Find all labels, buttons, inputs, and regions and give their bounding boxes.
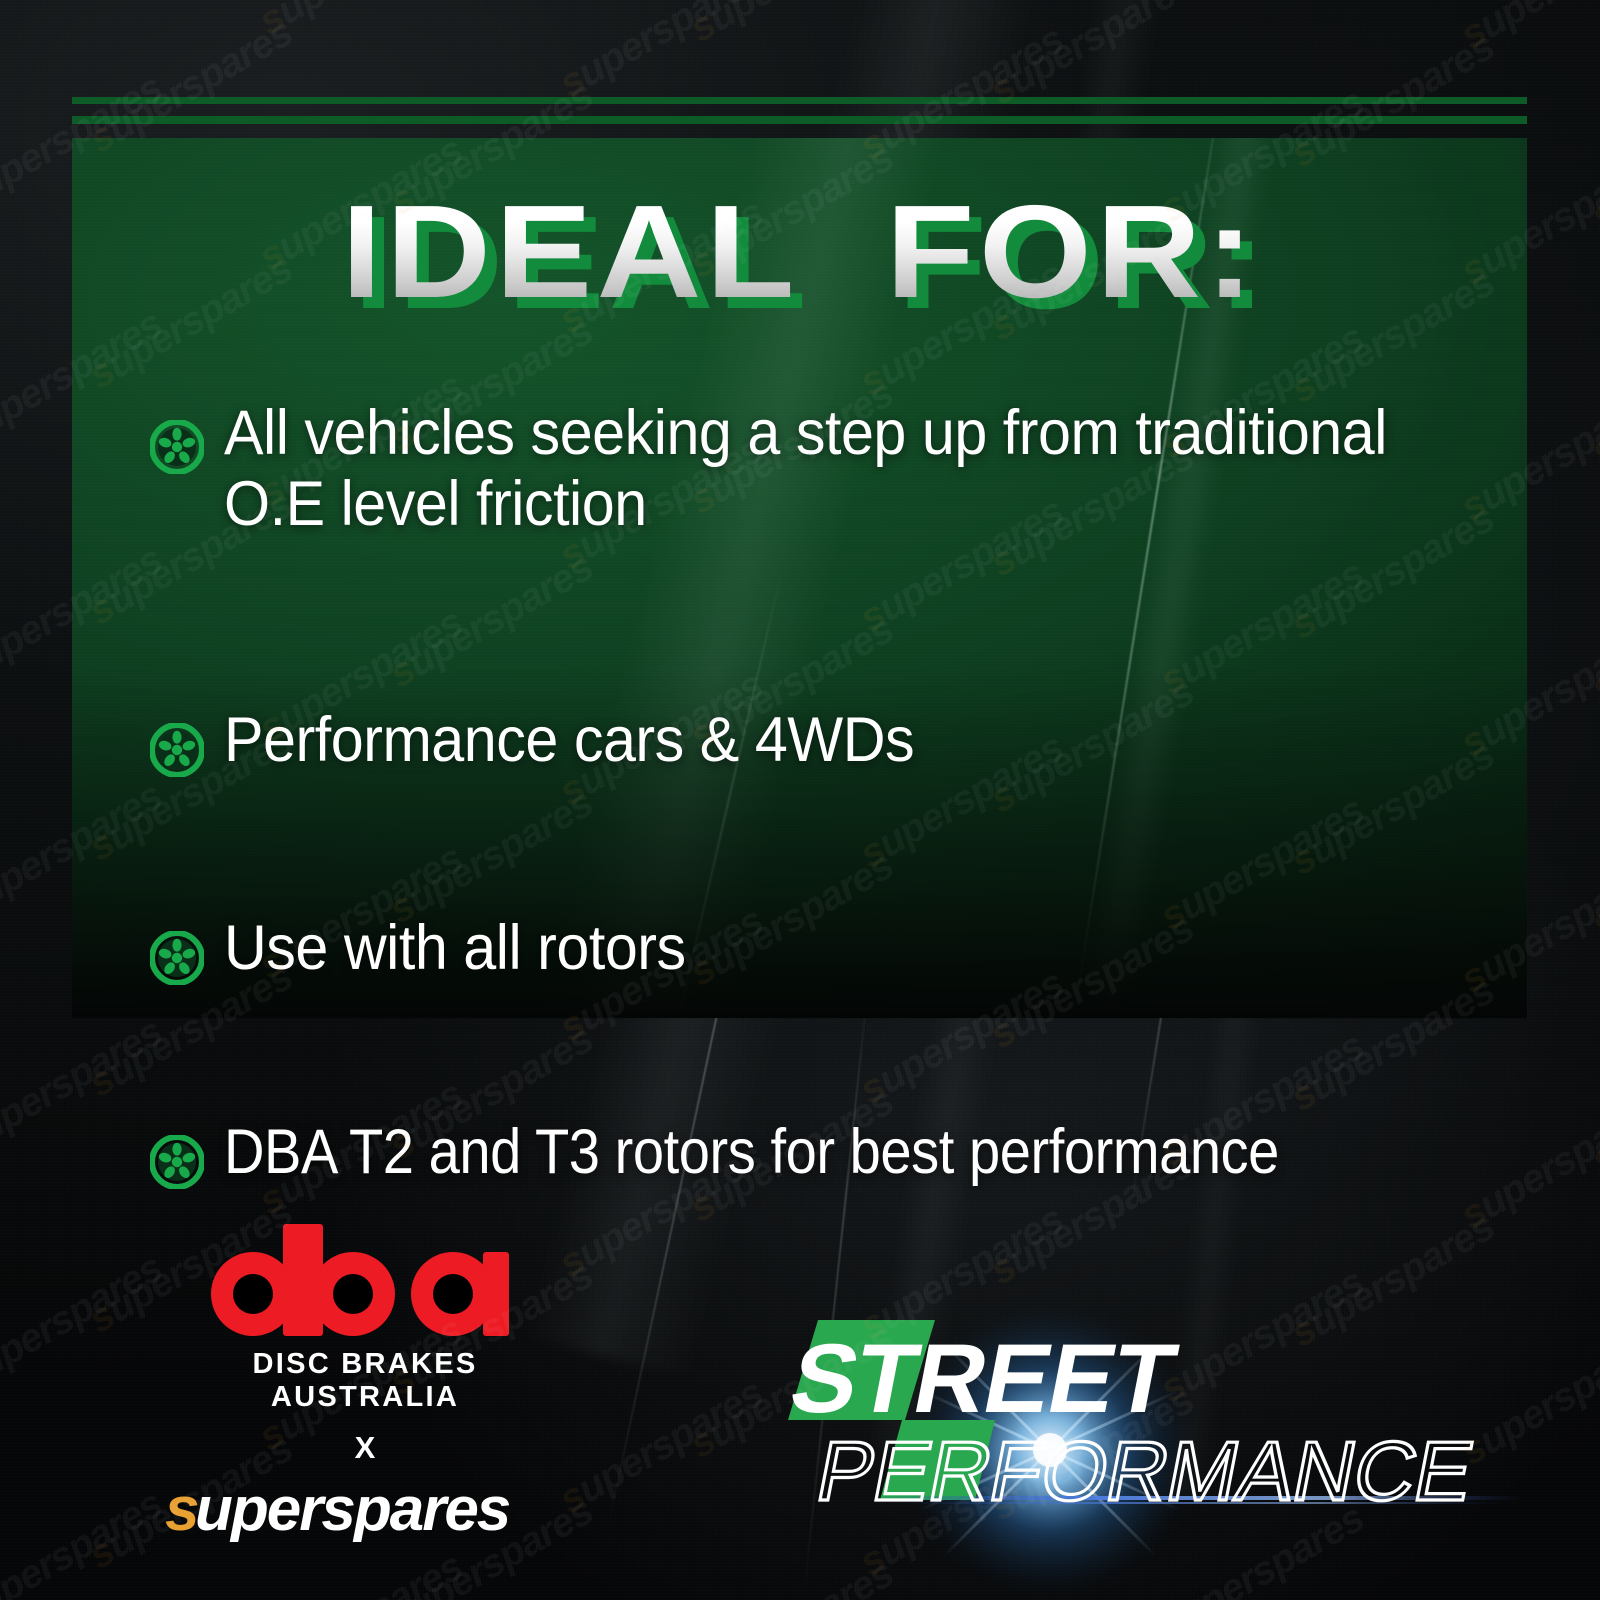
superspares-logo-lead: s [165, 1480, 198, 1542]
list-item-label: Use with all rotors [224, 913, 686, 984]
list-item: Performance cars & 4WDs [150, 705, 1550, 777]
dba-tagline: DISC BRAKES AUSTRALIA [161, 1348, 569, 1414]
promo-canvas: IDEAL FOR: IDEAL FOR: [0, 0, 1600, 1600]
accent-stripe-top [72, 97, 1527, 104]
wheel-icon [150, 931, 204, 985]
brand-lockup: DISC BRAKES AUSTRALIA X s uperspares [165, 1222, 565, 1542]
accent-stripe-second [72, 116, 1527, 124]
collab-separator: X [165, 1430, 565, 1466]
wheel-icon [150, 723, 204, 777]
performance-wordmark: PERFORMANCE [810, 1424, 1481, 1518]
street-performance-logo: STREET PERFORMANCE [770, 1300, 1580, 1560]
superspares-logo-rest: uperspares [195, 1480, 510, 1542]
page-title-text: IDEAL FOR: [342, 178, 1259, 325]
list-item: All vehicles seeking a step up from trad… [150, 398, 1550, 539]
dba-logo [195, 1222, 535, 1342]
feature-list: All vehicles seeking a step up from trad… [150, 398, 1550, 755]
list-item-label: DBA T2 and T3 rotors for best performanc… [224, 1117, 1279, 1188]
list-item-label: All vehicles seeking a step up from trad… [224, 398, 1470, 539]
page-title: IDEAL FOR: IDEAL FOR: [342, 186, 1259, 318]
wheel-icon [150, 1135, 204, 1189]
list-item: Use with all rotors [150, 913, 1550, 985]
street-wordmark: STREET [782, 1323, 1184, 1433]
superspares-logo: s uperspares [165, 1480, 565, 1542]
headline-block: IDEAL FOR: IDEAL FOR: [0, 186, 1600, 318]
wheel-icon [150, 420, 204, 474]
list-item-label: Performance cars & 4WDs [224, 705, 914, 776]
list-item: DBA T2 and T3 rotors for best performanc… [150, 1117, 1550, 1189]
